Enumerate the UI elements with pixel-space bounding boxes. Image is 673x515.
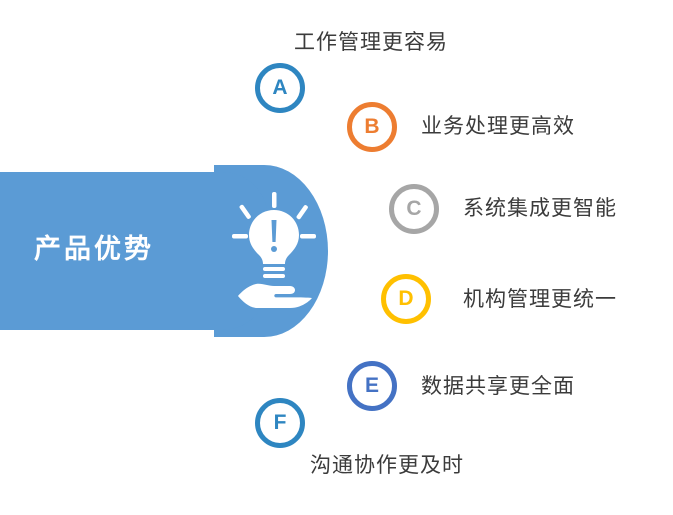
node-circle-a[interactable]: A bbox=[255, 63, 305, 113]
node-label-a: 工作管理更容易 bbox=[294, 26, 448, 56]
node-circle-e[interactable]: E bbox=[347, 361, 397, 411]
node-label-c: 系统集成更智能 bbox=[463, 192, 617, 222]
node-circle-b[interactable]: B bbox=[347, 102, 397, 152]
node-circle-c[interactable]: C bbox=[389, 184, 439, 234]
banner-title: 产品优势 bbox=[34, 232, 214, 266]
diagram-canvas: 产品优势 A 工作管理更容易 B 业务处理更高效 C 系统集成更智能 D 机构管… bbox=[0, 0, 673, 515]
node-circle-f[interactable]: F bbox=[255, 398, 305, 448]
lightbulb-in-hand-icon bbox=[228, 192, 320, 310]
node-label-b: 业务处理更高效 bbox=[421, 110, 575, 140]
node-label-f: 沟通协作更及时 bbox=[310, 449, 464, 479]
node-label-e: 数据共享更全面 bbox=[421, 370, 575, 400]
node-label-d: 机构管理更统一 bbox=[463, 283, 617, 313]
node-circle-d[interactable]: D bbox=[381, 274, 431, 324]
